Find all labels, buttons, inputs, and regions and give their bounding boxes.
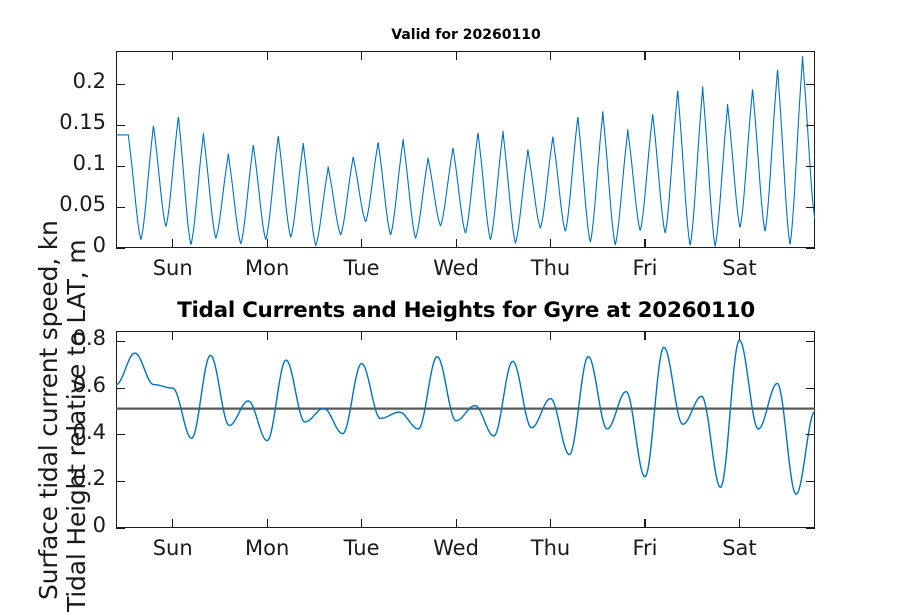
- y-tick-mark: [116, 341, 125, 342]
- y-tick-mark-right: [806, 248, 815, 249]
- x-tick-mark: [739, 239, 740, 248]
- y-tick-mark: [116, 207, 125, 208]
- x-tick-mark: [456, 239, 457, 248]
- x-tick-mark: [739, 519, 740, 528]
- x-tick-mark: [550, 239, 551, 248]
- y-tick-mark-right: [806, 166, 815, 167]
- y-tick-mark: [116, 125, 125, 126]
- x-tick-mark-top: [267, 51, 268, 60]
- x-tick-mark: [456, 519, 457, 528]
- x-tick-mark: [172, 519, 173, 528]
- x-tick-label: Sat: [679, 536, 799, 560]
- x-tick-mark: [644, 239, 645, 248]
- x-tick-mark-top: [361, 331, 362, 340]
- data-series-line: [116, 340, 815, 494]
- y-tick-mark-right: [806, 125, 815, 126]
- x-tick-mark-top: [456, 331, 457, 340]
- x-tick-mark-top: [172, 331, 173, 340]
- x-tick-mark-top: [644, 331, 645, 340]
- x-tick-mark-top: [361, 51, 362, 60]
- figure-main-title: Tidal Currents and Heights for Gyre at 2…: [116, 298, 816, 323]
- data-series-line: [116, 56, 815, 246]
- y-tick-mark-right: [806, 434, 815, 435]
- y-tick-mark: [116, 388, 125, 389]
- chart-panel-tidal-height: [116, 331, 815, 528]
- y-tick-label: 0.4: [0, 420, 106, 444]
- x-tick-mark: [644, 519, 645, 528]
- x-tick-mark-top: [739, 331, 740, 340]
- y-tick-label: 0: [0, 233, 106, 257]
- x-tick-mark: [267, 239, 268, 248]
- x-tick-mark-top: [550, 51, 551, 60]
- x-tick-mark: [550, 519, 551, 528]
- y-tick-label: 0.2: [0, 466, 106, 490]
- y-tick-mark-right: [806, 84, 815, 85]
- y-tick-label: 0.2: [0, 69, 106, 93]
- x-tick-label: Sat: [679, 256, 799, 280]
- y-tick-mark-right: [806, 207, 815, 208]
- x-tick-mark-top: [739, 51, 740, 60]
- y-tick-mark: [116, 84, 125, 85]
- y-tick-label: 0.1: [0, 151, 106, 175]
- y-tick-mark-right: [806, 388, 815, 389]
- y-tick-label: 0.05: [0, 192, 106, 216]
- y-axis-label-current-speed: Surface tidal current speed, kn: [34, 220, 63, 600]
- y-tick-mark: [116, 166, 125, 167]
- y-tick-label: 0: [0, 513, 106, 537]
- chart-panel-current-speed: [116, 51, 815, 248]
- x-tick-mark: [267, 519, 268, 528]
- x-tick-mark-top: [267, 331, 268, 340]
- y-tick-mark-right: [806, 481, 815, 482]
- x-tick-mark: [361, 519, 362, 528]
- y-tick-mark-right: [806, 341, 815, 342]
- y-tick-mark: [116, 248, 125, 249]
- x-tick-mark-top: [172, 51, 173, 60]
- y-tick-label: 0.8: [0, 326, 106, 350]
- y-tick-mark: [116, 528, 125, 529]
- y-tick-mark: [116, 434, 125, 435]
- plot-area-tidal-height: [116, 331, 815, 528]
- y-tick-mark: [116, 481, 125, 482]
- x-tick-mark: [361, 239, 362, 248]
- figure-canvas: Surface tidal current speed, kn Tidal He…: [0, 0, 900, 600]
- y-tick-label: 0.6: [0, 373, 106, 397]
- x-tick-mark: [172, 239, 173, 248]
- subplot-title-current-speed: Valid for 20260110: [116, 27, 816, 43]
- plot-area-current-speed: [116, 51, 815, 248]
- y-tick-mark-right: [806, 528, 815, 529]
- x-tick-mark-top: [644, 51, 645, 60]
- x-tick-mark-top: [456, 51, 457, 60]
- x-tick-mark-top: [550, 331, 551, 340]
- y-tick-label: 0.15: [0, 110, 106, 134]
